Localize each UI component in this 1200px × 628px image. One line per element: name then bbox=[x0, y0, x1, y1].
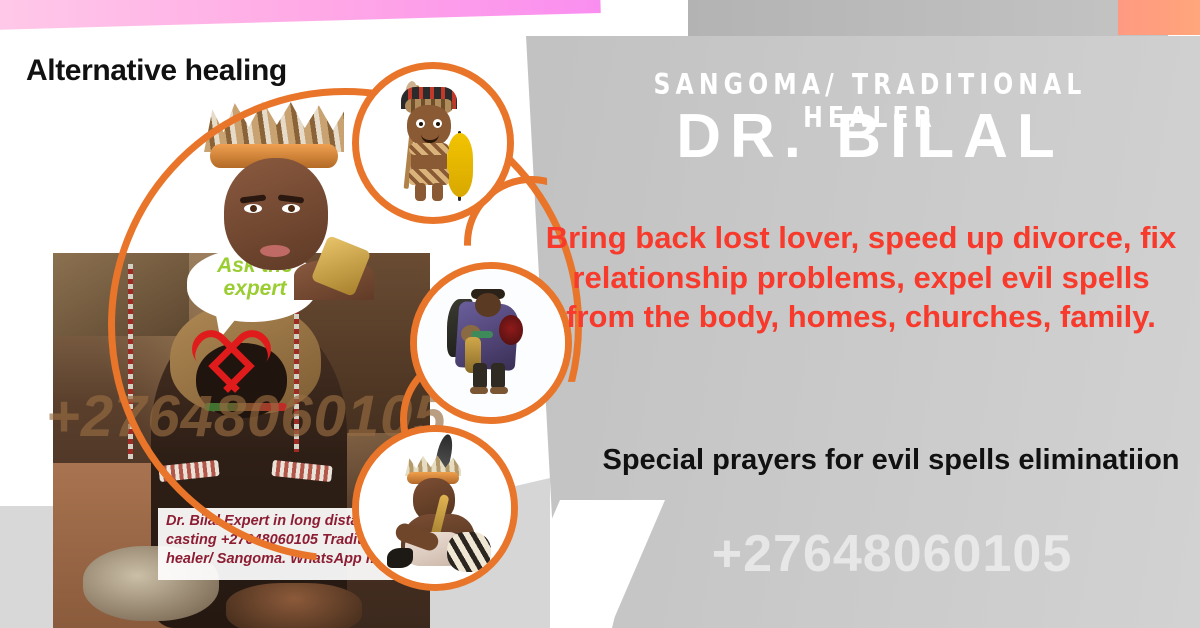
bowl-prop bbox=[226, 583, 362, 628]
circle-crouching-warrior bbox=[352, 425, 518, 591]
warrior-pupil-left bbox=[419, 122, 423, 126]
poster-canvas: Alternative healing Ask the expert +2764… bbox=[0, 0, 1200, 628]
gray-band bbox=[688, 0, 1168, 36]
pink-band bbox=[0, 0, 601, 30]
warrior-skirt bbox=[409, 169, 449, 185]
healer-leg-left bbox=[473, 363, 487, 389]
services-text: Bring back lost lover, speed up divorce,… bbox=[540, 218, 1182, 337]
black-feather-prop bbox=[387, 548, 413, 568]
alternative-healing-heading: Alternative healing bbox=[26, 54, 287, 88]
warrior-leg-left bbox=[415, 183, 426, 201]
bottom-left-gray-block bbox=[0, 506, 58, 628]
page-title: DR. BILAL bbox=[560, 104, 1180, 169]
healer-foot-left bbox=[470, 387, 488, 394]
red-shield bbox=[499, 315, 523, 345]
healer-foot-right bbox=[490, 387, 508, 394]
warrior-chest-fur bbox=[409, 143, 449, 155]
healer-leg-right bbox=[491, 363, 505, 389]
crouching-warrior-art bbox=[359, 432, 511, 584]
phone-watermark: +27648060105 bbox=[592, 524, 1192, 584]
healer-head bbox=[475, 293, 501, 317]
warrior-pupil-right bbox=[436, 122, 440, 126]
cartoon-warrior-art bbox=[359, 69, 507, 217]
fur-skirt bbox=[447, 532, 491, 572]
special-prayers-text: Special prayers for evil spells eliminat… bbox=[592, 442, 1190, 480]
orange-band-2 bbox=[1167, 0, 1200, 35]
warrior-leg-right bbox=[432, 183, 443, 201]
circle-zulu-cartoon-warrior bbox=[352, 62, 514, 224]
shield-icon bbox=[447, 133, 473, 197]
